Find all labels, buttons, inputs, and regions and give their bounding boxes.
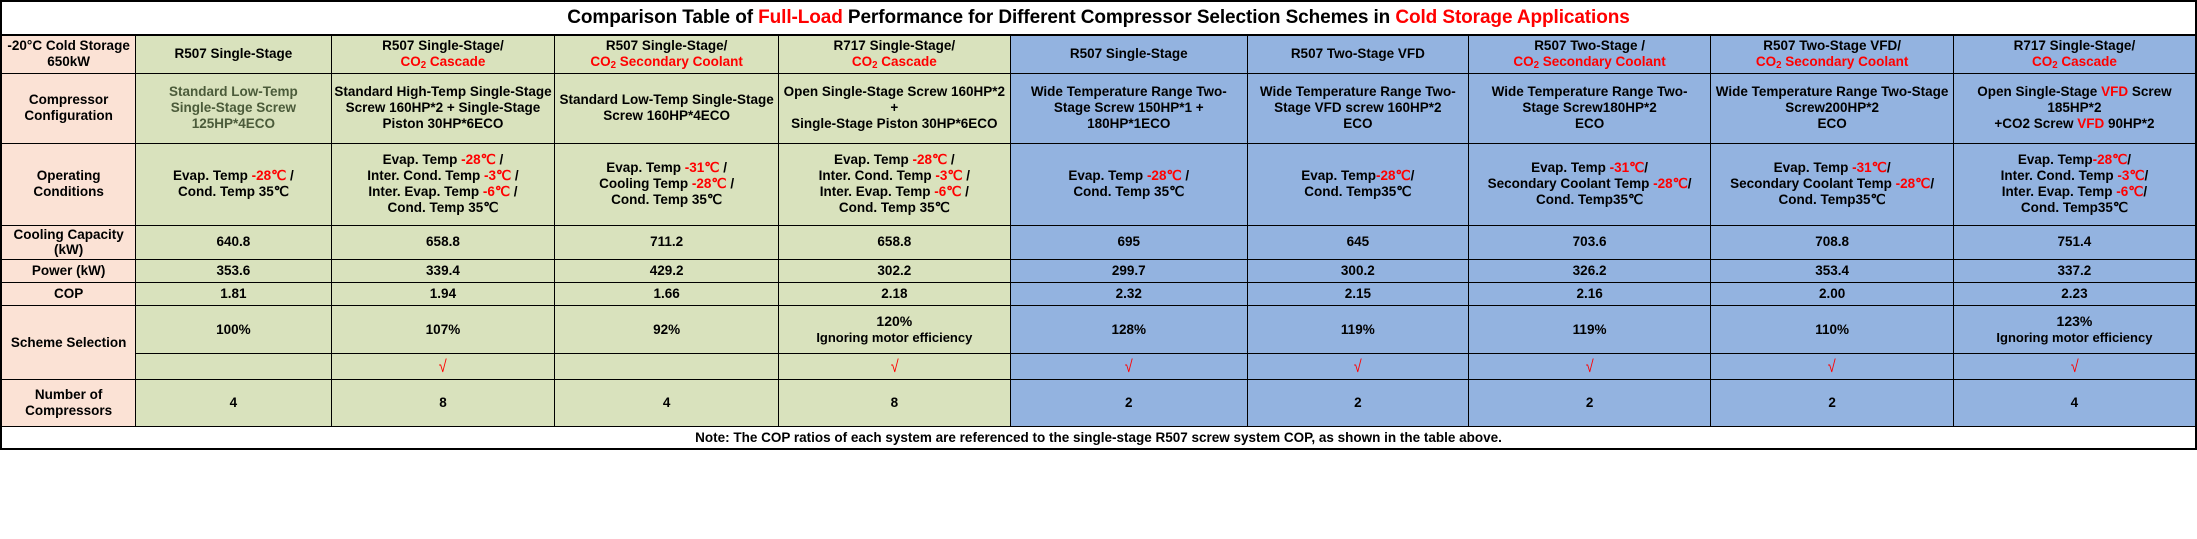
cell-config-3-l2: Screw 160HP*4ECO xyxy=(603,108,730,123)
check-icon: √ xyxy=(1828,358,1836,375)
row-label-number-of-compressors: Number of Compressors xyxy=(1,380,136,427)
cell-cop-8: 2.00 xyxy=(1711,283,1954,306)
cell-cooling-capacity-9: 751.4 xyxy=(1953,225,2196,260)
cell-config-8: Wide Temperature Range Two-Stage Screw20… xyxy=(1711,73,1954,143)
cell-power-6: 300.2 xyxy=(1247,260,1468,283)
cell-count-2: 8 xyxy=(331,380,555,427)
check-icon: √ xyxy=(2070,358,2078,375)
footnote-text: Note: The COP ratios of each system are … xyxy=(1,427,2196,449)
row-label-power: Power (kW) xyxy=(1,260,136,283)
cell-cond-9: Evap. Temp-28℃/Inter. Cond. Temp -3℃/Int… xyxy=(1953,143,2196,225)
cell-config-2-l1: Standard High-Temp Single-Stage xyxy=(334,84,551,99)
title-highlight-cold-storage: Cold Storage Applications xyxy=(1395,7,1629,28)
row-label-operating-conditions: Operating Conditions xyxy=(1,143,136,225)
page-title: Comparison Table of Full-Load Performanc… xyxy=(567,7,1629,29)
title-highlight-full-load: Full-Load xyxy=(758,7,843,28)
row-number-of-compressors: Number of Compressors 4 8 4 8 2 2 2 2 4 xyxy=(1,380,2196,427)
cell-cop-7: 2.16 xyxy=(1468,283,1711,306)
cell-scheme-check-9[interactable]: √ xyxy=(1953,354,2196,380)
column-header-3-main: R507 Single-Stage/ xyxy=(606,38,728,53)
cell-scheme-check-3[interactable] xyxy=(555,354,779,380)
cell-scheme-percent-4-value: 120% xyxy=(876,313,912,329)
column-header-1-main: R507 Single-Stage xyxy=(175,46,293,61)
check-icon: √ xyxy=(890,358,898,375)
cell-config-5-l2: Stage Screw 150HP*1 + xyxy=(1054,100,1204,115)
cell-power-9: 337.2 xyxy=(1953,260,2196,283)
column-header-6: R507 Two-Stage VFD xyxy=(1247,35,1468,73)
cell-config-8-l1: Wide Temperature Range Two-Stage xyxy=(1716,84,1949,99)
cell-power-1: 353.6 xyxy=(136,260,331,283)
cell-scheme-percent-5: 128% xyxy=(1010,306,1247,354)
row-label-cooling-capacity: Cooling Capacity (kW) xyxy=(1,225,136,260)
row-power: Power (kW) 353.6 339.4 429.2 302.2 299.7… xyxy=(1,260,2196,283)
cell-cond-6: Evap. Temp-28℃/Cond. Temp35℃ xyxy=(1247,143,1468,225)
cell-config-7-l1: Wide Temperature Range Two- xyxy=(1492,84,1688,99)
corner-cell: -20°C Cold Storage 650kW xyxy=(1,35,136,73)
cell-config-7: Wide Temperature Range Two- Stage Screw1… xyxy=(1468,73,1711,143)
cell-scheme-check-4[interactable]: √ xyxy=(778,354,1010,380)
cell-cond-1: Evap. Temp -28℃ /Cond. Temp 35℃ xyxy=(136,143,331,225)
cell-config-2: Standard High-Temp Single-Stage Screw 16… xyxy=(331,73,555,143)
row-scheme-selection-percent: Scheme Selection 100% 107% 92% 120% Igno… xyxy=(1,306,2196,354)
column-header-7-main: R507 Two-Stage / xyxy=(1534,38,1645,53)
cell-config-4: Open Single-Stage Screw 160HP*2 + Single… xyxy=(778,73,1010,143)
cell-cond-8: Evap. Temp -31℃/Secondary Coolant Temp -… xyxy=(1711,143,1954,225)
row-cop: COP 1.81 1.94 1.66 2.18 2.32 2.15 2.16 2… xyxy=(1,283,2196,306)
cell-config-1-l2: Single-Stage Screw xyxy=(171,100,296,115)
cell-scheme-percent-3: 92% xyxy=(555,306,779,354)
cell-scheme-check-6[interactable]: √ xyxy=(1247,354,1468,380)
column-header-8: R507 Two-Stage VFD/ CO2 Secondary Coolan… xyxy=(1711,35,1954,73)
column-header-9: R717 Single-Stage/ CO2 Cascade xyxy=(1953,35,2196,73)
cell-config-9-l3: +CO2 Screw VFD 90HP*2 xyxy=(1994,116,2154,131)
corner-line-1: -20°C Cold Storage xyxy=(7,38,129,53)
cell-cop-4: 2.18 xyxy=(778,283,1010,306)
cell-scheme-percent-6: 119% xyxy=(1247,306,1468,354)
cell-power-5: 299.7 xyxy=(1010,260,1247,283)
cell-cop-5: 2.32 xyxy=(1010,283,1247,306)
cell-config-4-l2: Single-Stage Piston 30HP*6ECO xyxy=(791,116,997,131)
row-label-cop: COP xyxy=(1,283,136,306)
cell-config-3: Standard Low-Temp Single-Stage Screw 160… xyxy=(555,73,779,143)
page-title-bar: Comparison Table of Full-Load Performanc… xyxy=(0,0,2197,34)
cell-cooling-capacity-6: 645 xyxy=(1247,225,1468,260)
column-header-4-main: R717 Single-Stage/ xyxy=(834,38,956,53)
row-scheme-selection-check: √ √ √ √ √ √ √ xyxy=(1,354,2196,380)
cell-count-3: 4 xyxy=(555,380,779,427)
cell-config-1: Standard Low-Temp Single-Stage Screw 125… xyxy=(136,73,331,143)
column-header-9-sub: CO2 Cascade xyxy=(1956,54,2193,70)
cell-config-1-l3: 125HP*4ECO xyxy=(192,116,275,131)
cell-cooling-capacity-5: 695 xyxy=(1010,225,1247,260)
cell-cooling-capacity-2: 658.8 xyxy=(331,225,555,260)
cell-scheme-percent-9-value: 123% xyxy=(2057,313,2093,329)
cell-scheme-check-1[interactable] xyxy=(136,354,331,380)
row-compressor-configuration: Compressor Configuration Standard Low-Te… xyxy=(1,73,2196,143)
column-header-7-sub: CO2 Secondary Coolant xyxy=(1471,54,1709,70)
row-label-line-2: Configuration xyxy=(24,108,112,123)
title-part-1: Comparison Table of xyxy=(567,7,758,28)
cell-power-2: 339.4 xyxy=(331,260,555,283)
column-header-2-sub: CO2 Cascade xyxy=(334,54,553,70)
cell-scheme-percent-8: 110% xyxy=(1711,306,1954,354)
column-header-5: R507 Single-Stage xyxy=(1010,35,1247,73)
cell-config-8-l3: ECO xyxy=(1817,116,1846,131)
cell-power-4: 302.2 xyxy=(778,260,1010,283)
cell-power-3: 429.2 xyxy=(555,260,779,283)
cell-config-5-l1: Wide Temperature Range Two- xyxy=(1031,84,1227,99)
column-header-2: R507 Single-Stage/ CO2 Cascade xyxy=(331,35,555,73)
cell-config-7-l2: Stage Screw180HP*2 xyxy=(1522,100,1656,115)
cell-scheme-percent-7: 119% xyxy=(1468,306,1711,354)
cell-cooling-capacity-3: 711.2 xyxy=(555,225,779,260)
cell-cop-3: 1.66 xyxy=(555,283,779,306)
cell-scheme-percent-4: 120% Ignoring motor efficiency xyxy=(778,306,1010,354)
cell-config-6-l3: ECO xyxy=(1343,116,1372,131)
cell-config-9: Open Single-Stage VFD Screw 185HP*2 +CO2… xyxy=(1953,73,2196,143)
row-label-line-1: Number of xyxy=(35,387,103,402)
cell-cooling-capacity-8: 708.8 xyxy=(1711,225,1954,260)
comparison-table-page: Comparison Table of Full-Load Performanc… xyxy=(0,0,2197,539)
cell-scheme-percent-2: 107% xyxy=(331,306,555,354)
cell-count-6: 2 xyxy=(1247,380,1468,427)
cell-config-3-l1: Standard Low-Temp Single-Stage xyxy=(559,92,773,107)
column-header-5-main: R507 Single-Stage xyxy=(1070,46,1188,61)
cell-config-9-l1: Open Single-Stage VFD Screw xyxy=(1977,84,2171,99)
cell-scheme-check-7[interactable]: √ xyxy=(1468,354,1711,380)
column-header-4: R717 Single-Stage/ CO2 Cascade xyxy=(778,35,1010,73)
cell-power-8: 353.4 xyxy=(1711,260,1954,283)
column-header-8-sub: CO2 Secondary Coolant xyxy=(1713,54,1951,70)
check-icon: √ xyxy=(1354,358,1362,375)
comparison-table: -20°C Cold Storage 650kW R507 Single-Sta… xyxy=(0,34,2197,450)
cell-count-7: 2 xyxy=(1468,380,1711,427)
column-header-4-sub: CO2 Cascade xyxy=(781,54,1008,70)
column-header-9-main: R717 Single-Stage/ xyxy=(2014,38,2136,53)
row-label-compressor-configuration: Compressor Configuration xyxy=(1,73,136,143)
row-label-line-1: Compressor xyxy=(29,92,109,107)
cell-cond-3: Evap. Temp -31℃ /Cooling Temp -28℃ /Cond… xyxy=(555,143,779,225)
cell-config-9-l2: 185HP*2 xyxy=(2047,100,2101,115)
column-header-6-main: R507 Two-Stage VFD xyxy=(1291,46,1425,61)
cell-cond-5: Evap. Temp -28℃ /Cond. Temp 35℃ xyxy=(1010,143,1247,225)
cell-config-7-l3: ECO xyxy=(1575,116,1604,131)
cell-config-6-l2: Stage VFD screw 160HP*2 xyxy=(1274,100,1441,115)
table-header-row: -20°C Cold Storage 650kW R507 Single-Sta… xyxy=(1,35,2196,73)
check-icon: √ xyxy=(1586,358,1594,375)
row-label-line-1: Operating xyxy=(37,168,101,183)
cell-config-6: Wide Temperature Range Two- Stage VFD sc… xyxy=(1247,73,1468,143)
cell-scheme-percent-9-note: Ignoring motor efficiency xyxy=(1996,330,2152,345)
column-header-3: R507 Single-Stage/ CO2 Secondary Coolant xyxy=(555,35,779,73)
cell-cop-2: 1.94 xyxy=(331,283,555,306)
cell-scheme-check-5[interactable]: √ xyxy=(1010,354,1247,380)
cell-config-5: Wide Temperature Range Two- Stage Screw … xyxy=(1010,73,1247,143)
cell-count-9: 4 xyxy=(1953,380,2196,427)
cell-power-7: 326.2 xyxy=(1468,260,1711,283)
cell-cond-2: Evap. Temp -28℃ /Inter. Cond. Temp -3℃ /… xyxy=(331,143,555,225)
row-footnote: Note: The COP ratios of each system are … xyxy=(1,427,2196,449)
cell-cond-7: Evap. Temp -31℃/Secondary Coolant Temp -… xyxy=(1468,143,1711,225)
cell-cop-9: 2.23 xyxy=(1953,283,2196,306)
cell-config-2-l3: Piston 30HP*6ECO xyxy=(383,116,504,131)
cell-scheme-check-2[interactable]: √ xyxy=(331,354,555,380)
cell-config-6-l1: Wide Temperature Range Two- xyxy=(1260,84,1456,99)
cell-count-4: 8 xyxy=(778,380,1010,427)
cell-cooling-capacity-1: 640.8 xyxy=(136,225,331,260)
cell-cooling-capacity-4: 658.8 xyxy=(778,225,1010,260)
column-header-2-main: R507 Single-Stage/ xyxy=(382,38,504,53)
row-label-line-2: Compressors xyxy=(25,403,112,418)
cell-count-5: 2 xyxy=(1010,380,1247,427)
row-cooling-capacity: Cooling Capacity (kW) 640.8 658.8 711.2 … xyxy=(1,225,2196,260)
cell-config-2-l2: Screw 160HP*2 + Single-Stage xyxy=(346,100,541,115)
cell-scheme-percent-9: 123% Ignoring motor efficiency xyxy=(1953,306,2196,354)
check-icon: √ xyxy=(1125,358,1133,375)
cell-scheme-check-8[interactable]: √ xyxy=(1711,354,1954,380)
check-icon: √ xyxy=(439,358,447,375)
column-header-8-main: R507 Two-Stage VFD/ xyxy=(1763,38,1901,53)
cell-config-1-l1: Standard Low-Temp xyxy=(169,84,298,99)
corner-line-2: 650kW xyxy=(47,54,90,69)
cell-count-1: 4 xyxy=(136,380,331,427)
row-label-line-2: Conditions xyxy=(33,184,104,199)
cell-config-4-l1: Open Single-Stage Screw 160HP*2 + xyxy=(784,84,1005,115)
cell-scheme-percent-1: 100% xyxy=(136,306,331,354)
cell-cop-1: 1.81 xyxy=(136,283,331,306)
cell-config-8-l2: Screw200HP*2 xyxy=(1785,100,1879,115)
cell-count-8: 2 xyxy=(1711,380,1954,427)
column-header-1: R507 Single-Stage xyxy=(136,35,331,73)
cell-cop-6: 2.15 xyxy=(1247,283,1468,306)
cell-cooling-capacity-7: 703.6 xyxy=(1468,225,1711,260)
title-part-2: Performance for Different Compressor Sel… xyxy=(843,7,1396,28)
cell-cond-4: Evap. Temp -28℃ /Inter. Cond. Temp -3℃ /… xyxy=(778,143,1010,225)
cell-scheme-percent-4-note: Ignoring motor efficiency xyxy=(816,330,972,345)
column-header-3-sub: CO2 Secondary Coolant xyxy=(557,54,776,70)
row-operating-conditions: Operating Conditions Evap. Temp -28℃ /Co… xyxy=(1,143,2196,225)
row-label-scheme-selection: Scheme Selection xyxy=(1,306,136,380)
cell-config-5-l3: 180HP*1ECO xyxy=(1087,116,1170,131)
column-header-7: R507 Two-Stage / CO2 Secondary Coolant xyxy=(1468,35,1711,73)
